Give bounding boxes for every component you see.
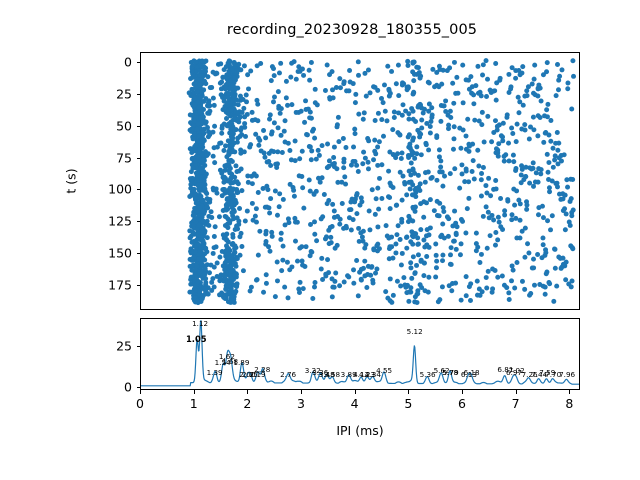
raster-y-tick-mark bbox=[137, 221, 141, 222]
histogram-x-tick-label: 3 bbox=[297, 396, 305, 411]
raster-y-tick-mark bbox=[137, 158, 141, 159]
peak-label: 6.18 bbox=[464, 369, 480, 376]
raster-y-tick-label: 0 bbox=[102, 55, 132, 70]
peak-label: 5.12 bbox=[407, 328, 423, 335]
histogram-x-tick-label: 6 bbox=[458, 396, 466, 411]
peak-label: 4.55 bbox=[376, 367, 392, 374]
peak-label: 1.89 bbox=[233, 359, 249, 366]
peak-label: 2.28 bbox=[254, 366, 270, 373]
raster-y-tick-mark bbox=[137, 285, 141, 286]
histogram-x-tick-label: 5 bbox=[404, 396, 412, 411]
peak-label: 5.79 bbox=[443, 369, 459, 376]
raster-y-tick-mark bbox=[137, 126, 141, 127]
histogram-x-tick-label: 4 bbox=[351, 396, 359, 411]
histogram-x-tick-mark bbox=[569, 390, 570, 394]
raster-y-tick-label: 125 bbox=[102, 214, 132, 229]
peak-label: 2.76 bbox=[280, 371, 296, 378]
histogram-x-tick-mark bbox=[516, 390, 517, 394]
histogram-x-tick-label: 0 bbox=[136, 396, 144, 411]
peak-label: 1.05 bbox=[186, 335, 207, 343]
raster-plot-axes bbox=[140, 52, 580, 310]
raster-y-tick-mark bbox=[137, 189, 141, 190]
histogram-x-axis-label: IPI (ms) bbox=[336, 423, 383, 438]
histogram-x-tick-mark bbox=[462, 390, 463, 394]
histogram-y-tick-label: 0 bbox=[102, 379, 132, 394]
histogram-x-tick-mark bbox=[247, 390, 248, 394]
peak-label: 7.96 bbox=[559, 371, 575, 378]
histogram-y-tick-label: 25 bbox=[102, 338, 132, 353]
raster-y-tick-label: 75 bbox=[102, 150, 132, 165]
raster-y-tick-label: 150 bbox=[102, 245, 132, 260]
matplotlib-figure: recording_20230928_180355_005 0255075100… bbox=[0, 0, 640, 480]
histogram-x-tick-mark bbox=[140, 390, 141, 394]
histogram-x-tick-label: 8 bbox=[565, 396, 573, 411]
raster-y-axis-label: t (s) bbox=[64, 168, 79, 193]
histogram-x-tick-label: 7 bbox=[512, 396, 520, 411]
ipi-histogram-line bbox=[141, 319, 579, 389]
raster-y-tick-mark bbox=[137, 62, 141, 63]
histogram-x-tick-mark bbox=[301, 390, 302, 394]
histogram-x-tick-label: 1 bbox=[190, 396, 198, 411]
histogram-x-tick-mark bbox=[355, 390, 356, 394]
histogram-axes bbox=[140, 318, 580, 390]
figure-title: recording_20230928_180355_005 bbox=[0, 22, 640, 38]
raster-y-tick-label: 50 bbox=[102, 118, 132, 133]
histogram-y-tick-mark bbox=[137, 346, 141, 347]
histogram-x-tick-mark bbox=[408, 390, 409, 394]
histogram-y-tick-mark bbox=[137, 387, 141, 388]
peak-label: 1.39 bbox=[207, 369, 223, 376]
peak-label: 1.12 bbox=[192, 320, 208, 327]
raster-scatter-points bbox=[141, 53, 579, 309]
raster-y-tick-mark bbox=[137, 253, 141, 254]
histogram-x-tick-mark bbox=[194, 390, 195, 394]
raster-y-tick-mark bbox=[137, 94, 141, 95]
raster-y-tick-label: 100 bbox=[102, 182, 132, 197]
raster-y-tick-label: 25 bbox=[102, 86, 132, 101]
raster-y-tick-label: 175 bbox=[102, 277, 132, 292]
peak-label: 3.58 bbox=[324, 371, 340, 378]
figure-title-text: recording_20230928_180355_005 bbox=[227, 22, 477, 38]
histogram-x-tick-label: 2 bbox=[243, 396, 251, 411]
